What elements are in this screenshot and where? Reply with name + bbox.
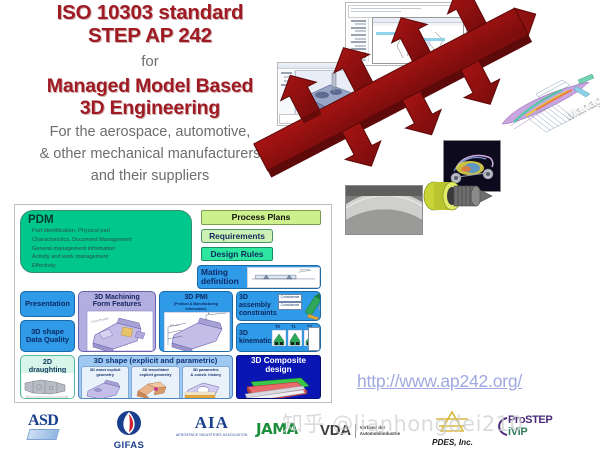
ap242-link[interactable]: http://www.ap242.org/	[357, 371, 522, 392]
logo-aia-name: AIA	[176, 413, 248, 433]
pdes-mark-icon	[433, 409, 471, 435]
composite-design-box[interactable]: 3D Composite design	[236, 355, 321, 399]
process-plans-box[interactable]: Process Plans	[201, 210, 321, 225]
tessellated-thumbnail	[132, 378, 178, 399]
slide-canvas: ISO 10303 standard STEP AP 242 for Manag…	[0, 0, 600, 450]
pdm-item: Effectivity	[32, 262, 139, 271]
pmi-box[interactable]: 3D PMI (Product & Manufacturing Informat…	[159, 291, 233, 352]
pdm-item: Activity and work management	[32, 253, 139, 262]
jet-engine-image	[418, 175, 500, 217]
pdm-item-list: Part identification, Physical part Chara…	[32, 227, 139, 273]
logo-vda-tagline: Verband der Automobilindustrie	[360, 425, 400, 436]
logo-aia: AIA AEROSPACE INDUSTRIES ASSOCIATION	[176, 413, 248, 437]
pdm-item: General management information	[32, 245, 139, 254]
design-rules-box[interactable]: Design Rules	[201, 247, 273, 261]
design-rules-label: Design Rules	[210, 250, 263, 259]
presentation-label: Presentation	[25, 300, 70, 308]
shape-cell-exact-explicit[interactable]: 3D exact explicit geometry	[81, 366, 129, 399]
kinematics-box[interactable]: 3D kinematics T0 T1 T2	[236, 323, 321, 352]
logo-jama: JAMA	[256, 420, 298, 438]
assembly-chip: Coincidence	[278, 294, 302, 302]
logo-aia-tagline: AEROSPACE INDUSTRIES ASSOCIATION	[176, 433, 248, 437]
logo-pdes-name: PDES, Inc.	[432, 438, 473, 447]
pdm-item: Spacification, Breakdown and configurati…	[32, 271, 139, 273]
shape-cell-label: 3D parametric & constr. history	[189, 368, 222, 378]
pdm-box[interactable]: PDM Part identification, Physical part C…	[20, 210, 192, 273]
mating-definition-label: Mating definition	[201, 268, 245, 286]
composite-panel-photo	[345, 185, 423, 235]
machining-label: 3D Machining Form Features	[93, 294, 142, 309]
pmi-thumbnail: Ø12 ±0.1 A	[160, 311, 232, 351]
kinematics-thumbnail: T0 T1 T2	[271, 324, 320, 351]
ap242-scope-diagram: PDM Part identification, Physical part C…	[14, 204, 332, 403]
machining-thumbnail: 3 Axis Pocket	[79, 309, 155, 351]
assembly-thumbnail: Coincidence Coincidence	[277, 292, 320, 320]
machining-form-features-box[interactable]: 3D Machining Form Features 3 Axis Pocket	[78, 291, 156, 352]
shape-cell-label: 3D tessellated explicit geometry	[138, 368, 172, 378]
pdm-item: Part identification, Physical part	[32, 227, 139, 236]
draughting-thumbnail	[21, 373, 74, 398]
composite-design-label: 3D Composite design	[237, 357, 320, 374]
logo-vda: VDA Verband der Automobilindustrie	[320, 422, 400, 439]
shape-cell-tessellated[interactable]: 3D tessellated explicit geometry	[131, 366, 179, 399]
member-associations-logos: ASD GIFAS AIA AEROSPACE INDUSTRIES ASSOC…	[0, 408, 600, 450]
composite-design-thumbnail	[237, 374, 320, 398]
assembly-constraints-box[interactable]: 3D assembly constraints Coincidence Coin…	[236, 291, 321, 321]
draughting-box[interactable]: 2D draughting	[20, 355, 75, 399]
process-plans-label: Process Plans	[232, 213, 291, 222]
logo-asd-tagline-bar	[26, 429, 59, 440]
logo-pdes: PDES, Inc.	[432, 409, 473, 447]
pdm-item: Characterictics, Document Management	[32, 236, 139, 245]
assembly-constraints-label: 3D assembly constraints	[239, 294, 277, 317]
shape-group-label: 3D shape (explicit and parametric)	[94, 357, 218, 365]
gifas-mark-icon	[112, 409, 146, 437]
shape-cell-label: 3D exact explicit geometry	[89, 368, 122, 378]
presentation-box[interactable]: Presentation	[20, 291, 75, 317]
logo-vda-divider	[355, 424, 356, 438]
logo-prostep-name: ProSTEP	[508, 414, 552, 426]
pmi-sublabel: (Product & Manufacturing Information)	[174, 302, 218, 311]
assembly-chip: Coincidence	[278, 302, 302, 310]
mating-definition-thumbnail: dimension	[247, 267, 320, 288]
logo-gifas: GIFAS	[112, 409, 146, 450]
pmi-label: 3D PMI	[184, 294, 207, 301]
kinematics-label: 3D kinematics	[239, 330, 271, 345]
requirements-box[interactable]: Requirements	[201, 229, 273, 243]
logo-vda-name: VDA	[320, 422, 351, 439]
parametric-thumbnail	[183, 378, 229, 399]
svg-text:Ø12 ±0.1: Ø12 ±0.1	[170, 325, 180, 327]
aircraft-wireframe-image	[492, 66, 598, 142]
requirements-label: Requirements	[209, 232, 265, 241]
pdm-title: PDM	[28, 214, 54, 226]
shape-data-quality-box[interactable]: 3D shape Data Quality	[20, 320, 75, 352]
logo-prostep-ivip: iViP	[508, 426, 552, 438]
draughting-label: 2D draughting	[29, 358, 67, 373]
mating-definition-box[interactable]: Mating definition dimension	[197, 265, 321, 289]
shape-group-cells: 3D exact explicit geometry 3D tessellate…	[79, 366, 232, 399]
svg-text:dimension: dimension	[300, 269, 311, 271]
logo-jama-name: JAMA	[256, 420, 298, 438]
logo-gifas-name: GIFAS	[112, 440, 146, 450]
logo-prostep: ProSTEP iViP	[494, 414, 552, 438]
logo-asd-name: ASD	[28, 412, 58, 430]
logo-asd: ASD	[28, 412, 58, 440]
shape-data-quality-label: 3D shape Data Quality	[26, 328, 69, 344]
shape-group-box[interactable]: 3D shape (explicit and parametric) 3D ex…	[78, 355, 233, 399]
exact-explicit-thumbnail	[82, 378, 128, 399]
shape-cell-parametric[interactable]: 3D parametric & constr. history	[182, 366, 230, 399]
